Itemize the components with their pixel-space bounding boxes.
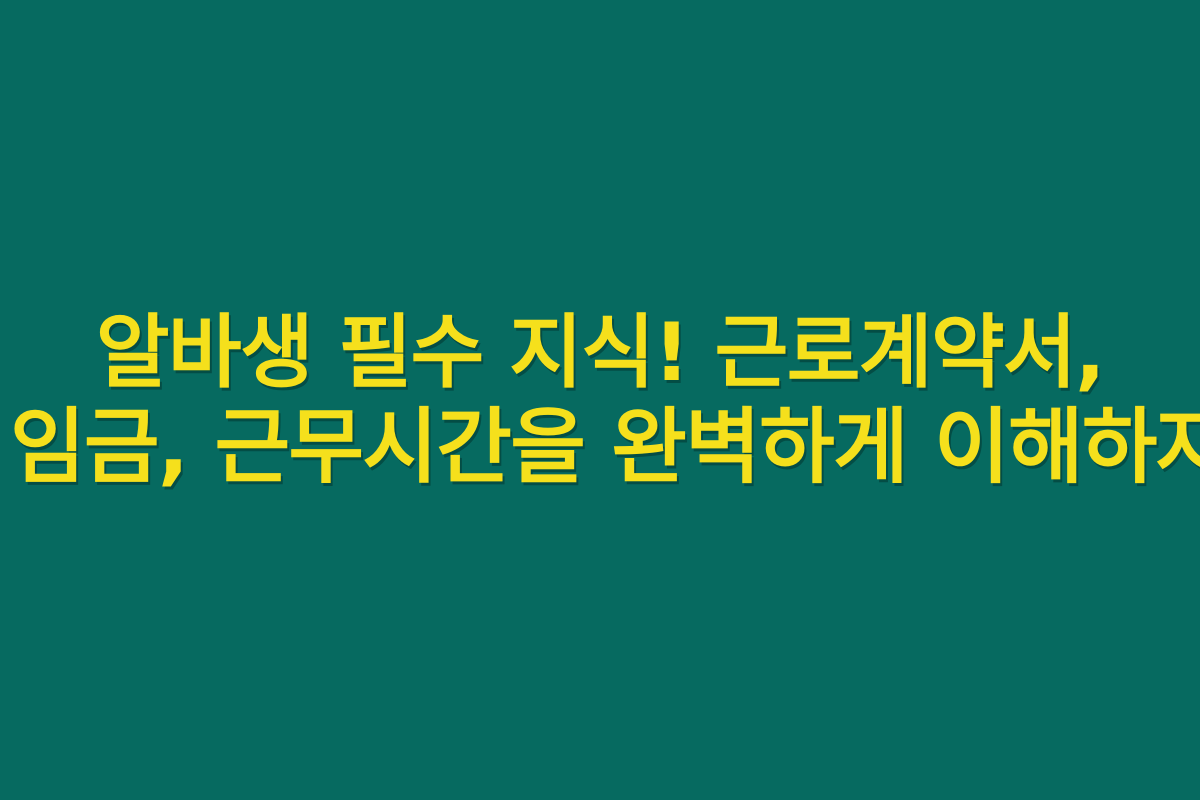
thumbnail-card: 알바생 필수 지식! 근로계약서, 임금, 근무시간을 완벽하게 이해하자 bbox=[0, 0, 1200, 800]
headline-line-2: 임금, 근무시간을 완벽하게 이해하자 bbox=[10, 400, 1190, 495]
headline-line-1: 알바생 필수 지식! 근로계약서, bbox=[10, 305, 1190, 400]
headline-block: 알바생 필수 지식! 근로계약서, 임금, 근무시간을 완벽하게 이해하자 bbox=[0, 305, 1200, 495]
